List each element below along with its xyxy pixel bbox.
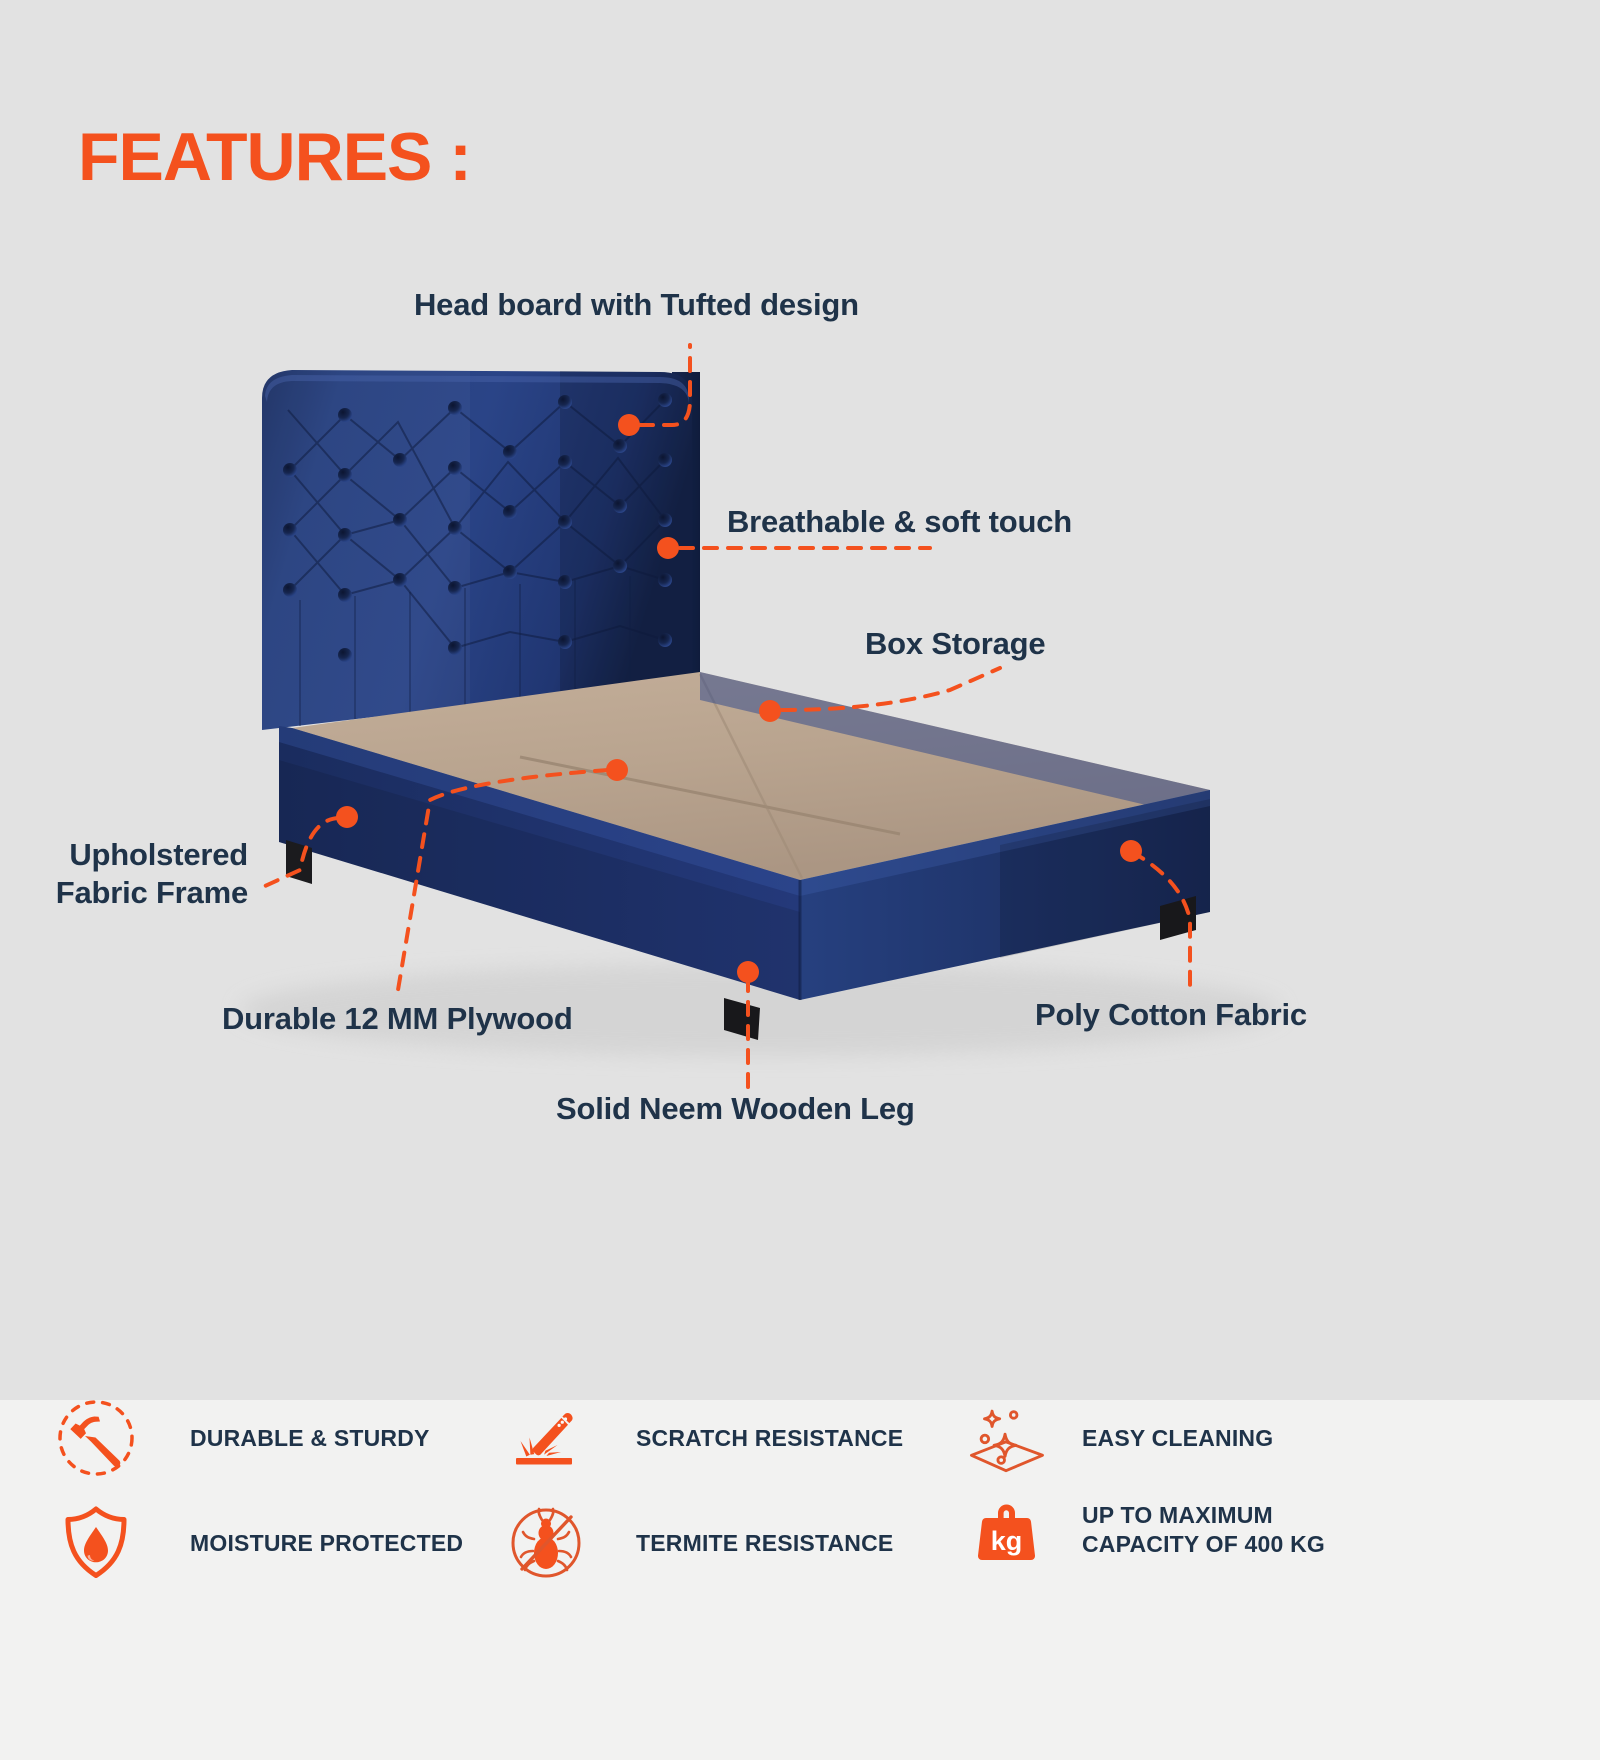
benefits-panel: DURABLE & STURDY SCRATCH RESISTANC: [0, 1400, 1600, 1760]
callout-dot-breathable: [657, 537, 679, 559]
benefit-label-termite: TERMITE RESISTANCE: [636, 1529, 893, 1558]
benefit-easy-cleaning: EASY CLEANING: [958, 1390, 1273, 1486]
callout-label-box-storage: Box Storage: [865, 625, 1045, 663]
callout-dot-wooden-leg: [737, 961, 759, 983]
hammer-icon: [48, 1390, 144, 1486]
benefit-moisture-protected: MOISTURE PROTECTED: [48, 1495, 463, 1591]
benefit-max-capacity: kg UP TO MAXIMUM CAPACITY OF 400 KG: [958, 1482, 1325, 1578]
benefit-label-durable: DURABLE & STURDY: [190, 1424, 430, 1453]
features-hero-panel: FEATURES :: [0, 0, 1600, 1400]
callout-dot-box-storage: [759, 700, 781, 722]
benefit-scratch-resistance: SCRATCH RESISTANCE: [498, 1390, 903, 1486]
callout-label-plywood: Durable 12 MM Plywood: [222, 1000, 573, 1038]
kg-icon-text: kg: [991, 1526, 1023, 1556]
benefit-termite-resistance: TERMITE RESISTANCE: [498, 1495, 893, 1591]
sparkle-surface-icon: [958, 1390, 1054, 1486]
knife-scratch-icon: [498, 1390, 594, 1486]
no-termite-icon: [498, 1495, 594, 1591]
benefit-label-moisture: MOISTURE PROTECTED: [190, 1529, 463, 1558]
callout-label-breathable: Breathable & soft touch: [727, 503, 1072, 541]
kg-weight-bag-icon: kg: [958, 1482, 1054, 1578]
callout-dot-plywood: [606, 759, 628, 781]
callout-dot-poly-cotton: [1120, 840, 1142, 862]
callout-label-upholstered: Upholstered Fabric Frame: [32, 836, 248, 912]
benefit-label-scratch: SCRATCH RESISTANCE: [636, 1424, 903, 1453]
callout-label-headboard: Head board with Tufted design: [414, 286, 859, 324]
benefit-durable-sturdy: DURABLE & STURDY: [48, 1390, 430, 1486]
shield-droplet-icon: [48, 1495, 144, 1591]
callout-label-wooden-leg: Solid Neem Wooden Leg: [556, 1090, 915, 1128]
benefit-label-cleaning: EASY CLEANING: [1082, 1424, 1273, 1453]
bed-illustration: [0, 0, 1600, 1400]
callout-dot-upholstered: [336, 806, 358, 828]
benefit-label-capacity: UP TO MAXIMUM CAPACITY OF 400 KG: [1082, 1501, 1325, 1559]
callout-dot-headboard: [618, 414, 640, 436]
callout-label-poly-cotton: Poly Cotton Fabric: [1035, 996, 1307, 1034]
